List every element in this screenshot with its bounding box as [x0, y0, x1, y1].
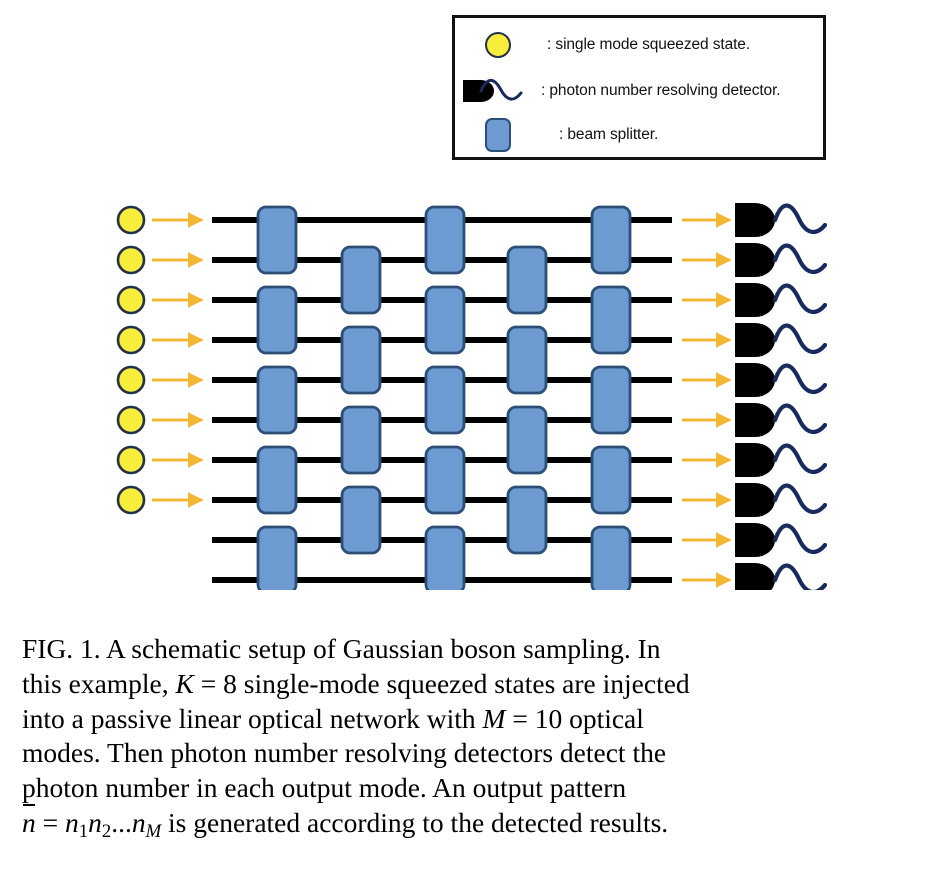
- circuit-canvas: [0, 190, 950, 590]
- photon-detector-6[interactable]: [735, 403, 825, 437]
- squeezed-state-source-4: [118, 327, 144, 353]
- beam-splitter-c2-m23[interactable]: [342, 247, 380, 313]
- photon-detector-9[interactable]: [735, 523, 825, 557]
- beam-splitter-icon: [455, 118, 541, 152]
- beam-splitter-c3-m12[interactable]: [426, 207, 464, 273]
- photon-detector-10[interactable]: [735, 563, 825, 590]
- beam-splitter-c5-m34[interactable]: [592, 287, 630, 353]
- photon-detector-2[interactable]: [735, 243, 825, 277]
- beam-splitter-c3-m34[interactable]: [426, 287, 464, 353]
- photon-detector-7[interactable]: [735, 443, 825, 477]
- legend-box: : single mode squeezed state. : photon n…: [452, 15, 826, 160]
- beam-splitter-c3-m910[interactable]: [426, 527, 464, 590]
- photon-detector-1[interactable]: [735, 203, 825, 237]
- beam-splitter-c5-m12[interactable]: [592, 207, 630, 273]
- photon-detector-3[interactable]: [735, 283, 825, 317]
- beam-splitter-c1-m56[interactable]: [258, 367, 296, 433]
- photon-detector-5[interactable]: [735, 363, 825, 397]
- sources-layer: [118, 207, 144, 513]
- detectors-layer: [735, 203, 825, 590]
- legend-label-beam-splitter: : beam splitter.: [541, 126, 658, 144]
- beam-splitter-c4-m45[interactable]: [508, 327, 546, 393]
- beam-splitter-c5-m78[interactable]: [592, 447, 630, 513]
- legend-item-squeezed-state: : single mode squeezed state.: [455, 22, 823, 68]
- squeezed-state-source-6: [118, 407, 144, 433]
- legend-label-squeezed-state: : single mode squeezed state.: [541, 36, 750, 54]
- photon-detector-4[interactable]: [735, 323, 825, 357]
- squeezed-state-source-1: [118, 207, 144, 233]
- beam-splitter-c1-m78[interactable]: [258, 447, 296, 513]
- input-arrows-layer: [152, 220, 202, 500]
- caption-line-1: FIG. 1. A schematic setup of Gaussian bo…: [22, 632, 930, 667]
- beam-splitter-c1-m34[interactable]: [258, 287, 296, 353]
- beam-splitter-c2-m67[interactable]: [342, 407, 380, 473]
- beam-splitter-c5-m56[interactable]: [592, 367, 630, 433]
- beam-splitter-c4-m89[interactable]: [508, 487, 546, 553]
- figure-caption: FIG. 1. A schematic setup of Gaussian bo…: [22, 632, 930, 844]
- beam-splitter-c3-m56[interactable]: [426, 367, 464, 433]
- beam-splitter-c2-m89[interactable]: [342, 487, 380, 553]
- squeezed-state-source-3: [118, 287, 144, 313]
- beam-splitter-c4-m23[interactable]: [508, 247, 546, 313]
- detector-icon: [455, 76, 541, 106]
- caption-line-4: modes. Then photon number resolving dete…: [22, 736, 930, 771]
- beam-splitter-c1-m910[interactable]: [258, 527, 296, 590]
- beam-splitter-c3-m78[interactable]: [426, 447, 464, 513]
- beam-splitter-c2-m45[interactable]: [342, 327, 380, 393]
- caption-line-3: into a passive linear optical network wi…: [22, 702, 930, 737]
- caption-line-6: n = n1n2...nM is generated according to …: [22, 806, 930, 844]
- photon-detector-8[interactable]: [735, 483, 825, 517]
- circuit-diagram: [0, 190, 950, 590]
- beam-splitter-c1-m12[interactable]: [258, 207, 296, 273]
- caption-line-5: photon number in each output mode. An ou…: [22, 771, 930, 806]
- beam-splitter-c4-m67[interactable]: [508, 407, 546, 473]
- beam-splitter-c5-m910[interactable]: [592, 527, 630, 590]
- caption-line-2: this example, K = 8 single-mode squeezed…: [22, 667, 930, 702]
- output-arrows-layer: [682, 220, 730, 580]
- legend-item-detector: : photon number resolving detector.: [455, 68, 823, 114]
- beam-splitters-layer: [258, 207, 630, 590]
- legend-item-beam-splitter: : beam splitter.: [455, 112, 823, 158]
- squeezed-state-source-2: [118, 247, 144, 273]
- squeezed-state-source-7: [118, 447, 144, 473]
- squeezed-state-source-8: [118, 487, 144, 513]
- legend-label-detector: : photon number resolving detector.: [541, 82, 780, 100]
- yellow-circle-icon: [455, 32, 541, 58]
- squeezed-state-source-5: [118, 367, 144, 393]
